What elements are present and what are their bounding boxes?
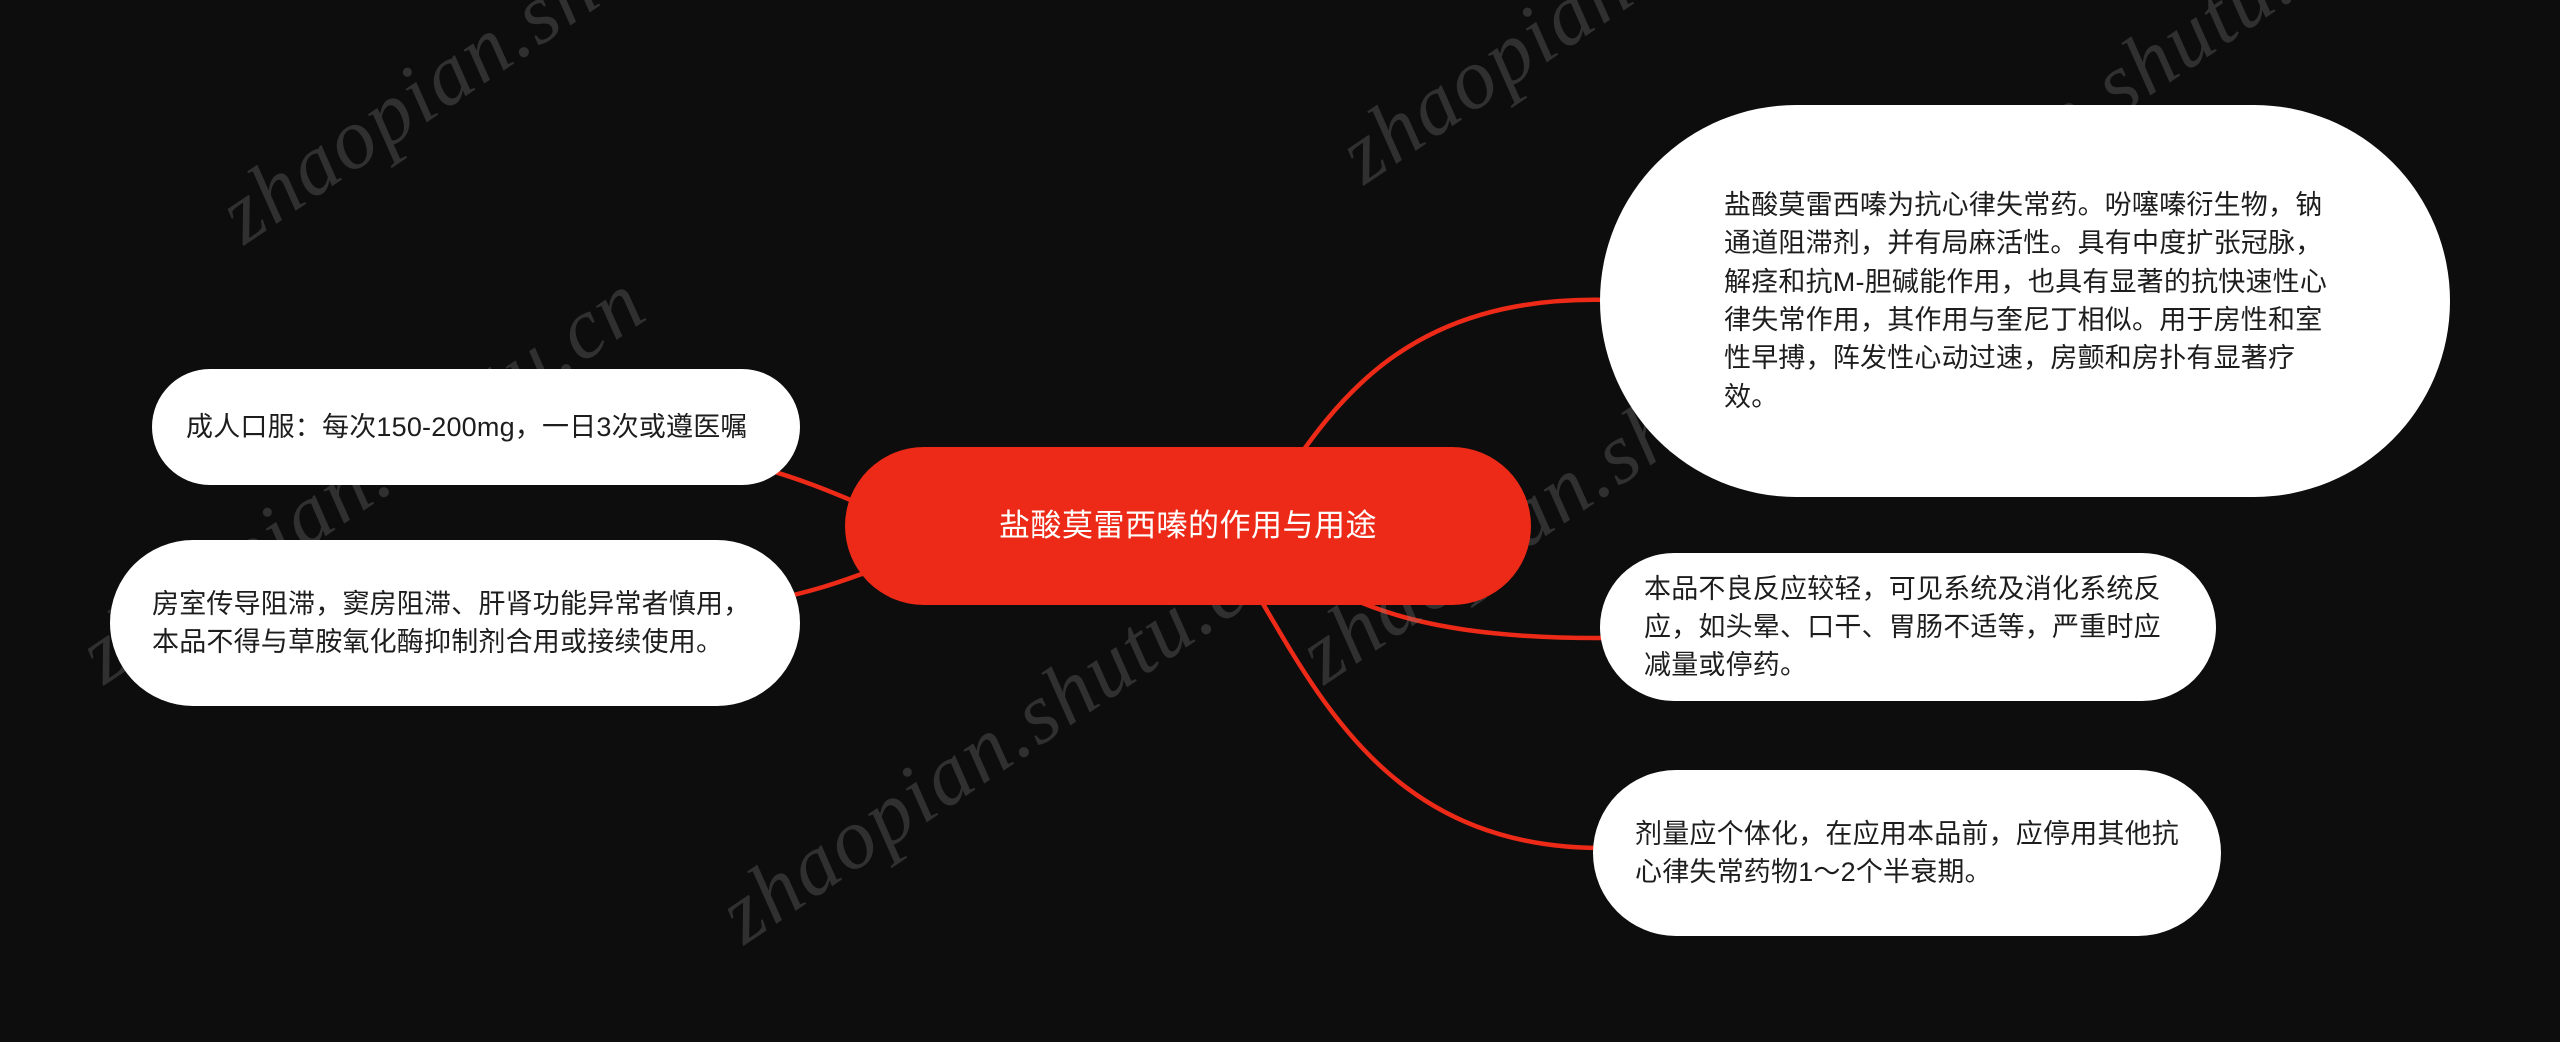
branch-node-adverse-label: 本品不良反应较轻，可见系统及消化系统反应，如头晕、口干、胃肠不适等，严重时应减量… bbox=[1644, 570, 2180, 685]
branch-node-action-label: 盐酸莫雷西嗪为抗心律失常药。吩噻嗪衍生物，钠通道阻滞剂，并有局麻活性。具有中度扩… bbox=[1724, 186, 2330, 416]
branch-node-action[interactable]: 盐酸莫雷西嗪为抗心律失常药。吩噻嗪衍生物，钠通道阻滞剂，并有局麻活性。具有中度扩… bbox=[1600, 105, 2450, 497]
branch-node-admin-label: 剂量应个体化，在应用本品前，应停用其他抗心律失常药物1～2个半衰期。 bbox=[1635, 815, 2185, 892]
branch-node-dosage-label: 成人口服：每次150-200mg，一日3次或遵医嘱 bbox=[186, 408, 768, 446]
branch-node-dosage[interactable]: 成人口服：每次150-200mg，一日3次或遵医嘱 bbox=[152, 369, 800, 485]
root-node-label: 盐酸莫雷西嗪的作用与用途 bbox=[903, 504, 1473, 549]
branch-node-adverse[interactable]: 本品不良反应较轻，可见系统及消化系统反应，如头晕、口干、胃肠不适等，严重时应减量… bbox=[1600, 553, 2216, 701]
branch-node-caution[interactable]: 房室传导阻滞，窦房阻滞、肝肾功能异常者慎用，本品不得与草胺氧化酶抑制剂合用或接续… bbox=[110, 540, 800, 706]
branch-node-caution-label: 房室传导阻滞，窦房阻滞、肝肾功能异常者慎用，本品不得与草胺氧化酶抑制剂合用或接续… bbox=[152, 585, 764, 662]
mindmap-canvas: zhaopian.shutu.cn zhaopian.shutu.cn zhao… bbox=[0, 0, 2560, 1042]
branch-node-admin[interactable]: 剂量应个体化，在应用本品前，应停用其他抗心律失常药物1～2个半衰期。 bbox=[1593, 770, 2221, 936]
root-node[interactable]: 盐酸莫雷西嗪的作用与用途 bbox=[845, 447, 1531, 605]
